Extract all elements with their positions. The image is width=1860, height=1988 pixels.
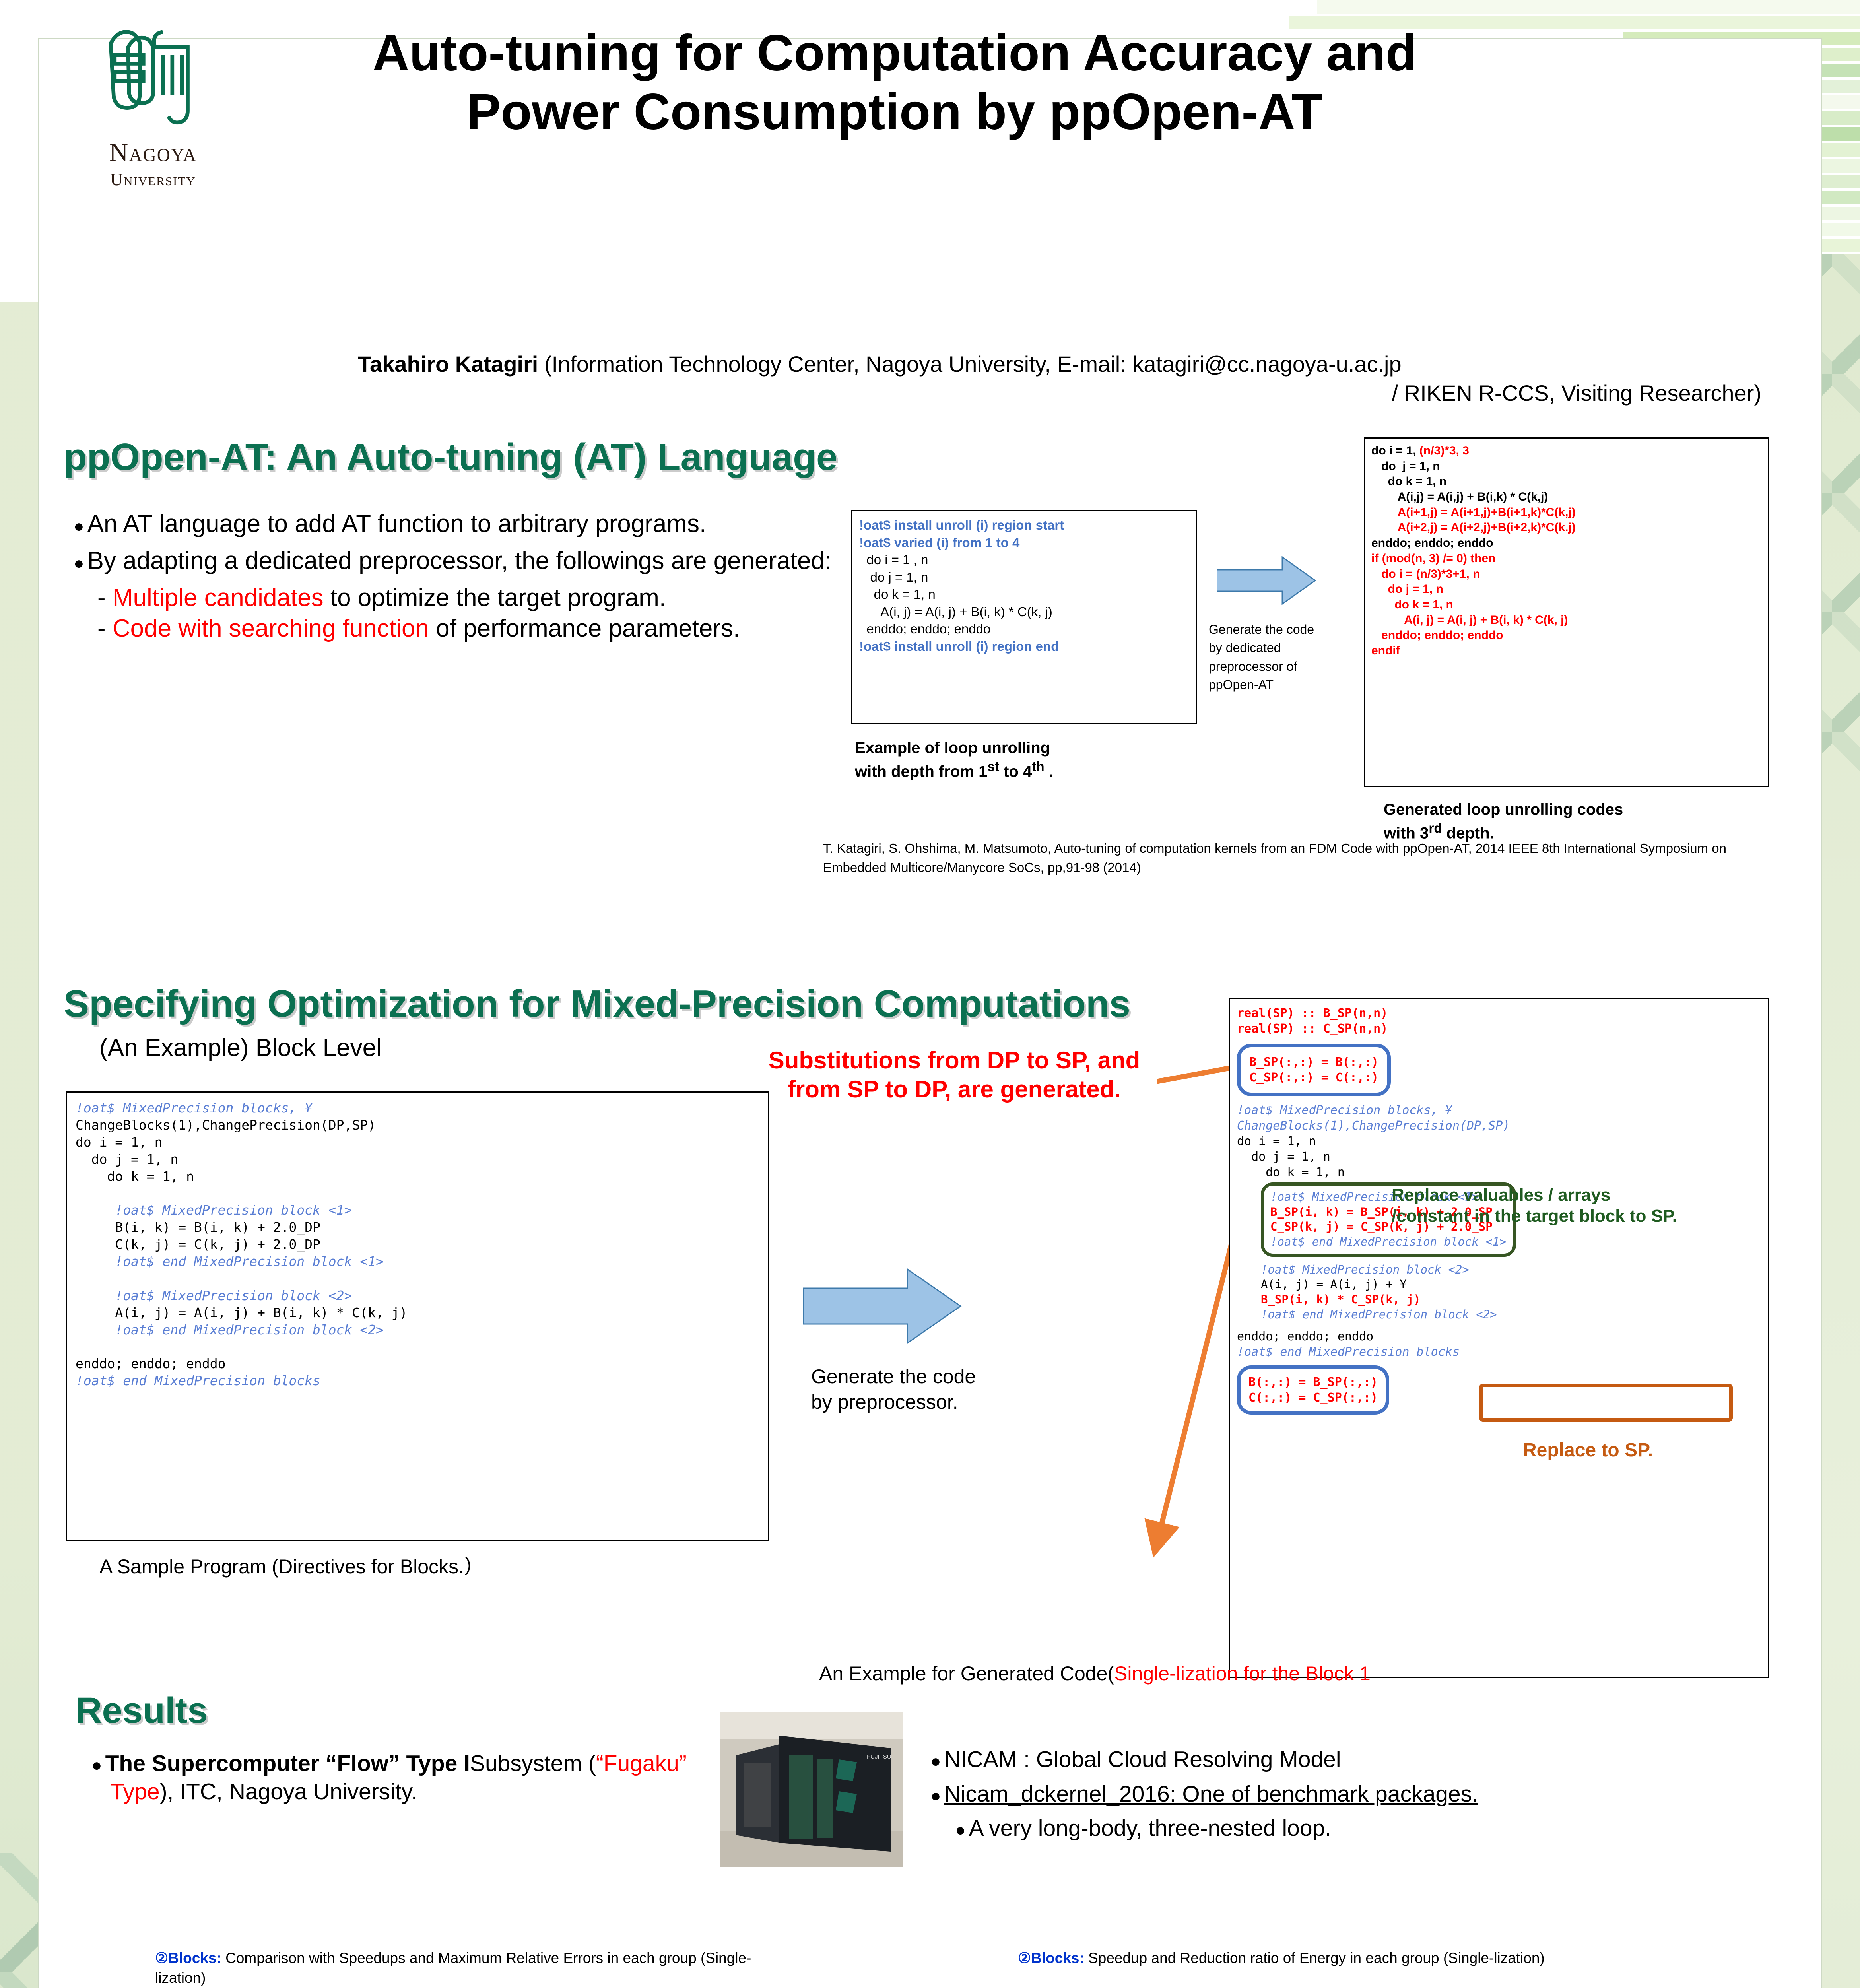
section1-reference: T. Katagiri, S. Ohshima, M. Matsumoto, A… — [823, 839, 1769, 877]
code-box-unroll-directive: !oat$ install unroll (i) region start !o… — [851, 510, 1197, 724]
code-listing: !oat$ MixedPrecision block <2> A(i, j) =… — [1261, 1262, 1761, 1322]
section1-title: ppOpen-AT: An Auto-tuning (AT) Language — [64, 435, 837, 479]
code-box-mixedprecision-source: !oat$ MixedPrecision blocks, ¥ ChangeBlo… — [66, 1091, 769, 1541]
caption-line: Example of loop unrolling — [855, 738, 1205, 758]
highlight-box-orange — [1479, 1384, 1733, 1422]
author-line: Takahiro Katagiri (Information Technolog… — [358, 350, 1773, 408]
highlight-box-blue-bottom: B(:,:) = B_SP(:,:) C(:,:) = C_SP(:,:) — [1237, 1365, 1389, 1415]
bullet-subitem-rest: of performance parameters. — [429, 615, 740, 642]
code-box-mixedprecision-generated: real(SP) :: B_SP(n,n) real(SP) :: C_SP(n… — [1229, 998, 1769, 1678]
code-listing: !oat$ install unroll (i) region start !o… — [859, 516, 1188, 655]
caption-prefix: An Example for Generated Code( — [819, 1662, 1114, 1685]
caption-line: with depth from 1st to 4th . — [855, 758, 1205, 782]
substitution-note: Substitutions from DP to SP, and from SP… — [755, 1046, 1153, 1104]
author-line2: / RIKEN R-CCS, Visiting Researcher) — [358, 379, 1773, 408]
bullet-item: By adapting a dedicated preprocessor, th… — [74, 546, 837, 577]
svg-text:FUJITSU: FUJITSU — [867, 1753, 891, 1760]
arrow-note-line: Generate the code — [1209, 620, 1328, 639]
bullet-text: ), ITC, Nagoya University. — [160, 1779, 417, 1804]
logo-university-name: Nagoya — [74, 138, 233, 168]
section2-subtitle: (An Example) Block Level — [99, 1034, 382, 1062]
page-title-line1: Auto-tuning for Computation Accuracy and — [247, 24, 1543, 83]
preprocessor-note: Generate the code by preprocessor. — [811, 1364, 1002, 1415]
section2-title: Specifying Optimization for Mixed-Precis… — [64, 982, 1130, 1026]
page-title: Auto-tuning for Computation Accuracy and… — [247, 24, 1543, 142]
poster-root: Nagoya University Auto-tuning for Comput… — [0, 0, 1860, 1988]
bullet-subitem-rest: to optimize the target program. — [324, 584, 666, 612]
bullet-subitem: Code with searching function of performa… — [74, 613, 837, 644]
bullet-subitem-highlight: Code with searching function — [113, 615, 429, 642]
code-box-generated-unroll: do i = 1, (n/3)*3, 3 do j = 1, n do k = … — [1364, 437, 1769, 787]
section1-bullets: An AT language to add AT function to arb… — [74, 509, 837, 644]
bullet-subitem: Multiple candidates to optimize the targ… — [74, 583, 837, 613]
chart-title-marker: ② — [155, 1950, 168, 1966]
note-line: /constant in the target block to SP. — [1392, 1206, 1781, 1227]
code-box-left-caption: Example of loop unrolling with depth fro… — [855, 738, 1205, 782]
results-right-bullets: NICAM : Global Cloud Resolving Model Nic… — [930, 1745, 1738, 1849]
bullet-subitem-highlight: Multiple candidates — [113, 584, 324, 612]
code-box-right-caption: Generated loop unrolling codes with 3rd … — [1384, 799, 1781, 843]
note-line: Replace valuables / arrays — [1392, 1185, 1781, 1206]
arrow-note: Generate the code by dedicated preproces… — [1209, 620, 1328, 694]
bullet-item: An AT language to add AT function to arb… — [74, 509, 837, 540]
bullet-item: Nicam_dckernel_2016: One of benchmark pa… — [930, 1780, 1738, 1808]
bullet-bold: The Supercomputer “Flow” Type I — [105, 1751, 470, 1776]
code-listing: B(:,:) = B_SP(:,:) C(:,:) = C_SP(:,:) — [1248, 1375, 1378, 1406]
supercomputer-photo: FUJITSU — [720, 1712, 903, 1867]
code-listing: enddo; enddo; enddo !oat$ end MixedPreci… — [1237, 1329, 1761, 1360]
nagoya-crest-icon — [95, 22, 211, 133]
code-box-left-caption: A Sample Program (Directives for Blocks.… — [99, 1551, 484, 1579]
flow-arrow-right-icon — [1217, 555, 1316, 606]
arrow-note-line: preprocessor of — [1209, 657, 1328, 676]
bullet-text-underlined: Nicam_dckernel_2016: One of benchmark pa… — [944, 1781, 1478, 1807]
nagoya-university-logo: Nagoya University — [74, 22, 233, 190]
section3-title: Results — [76, 1690, 208, 1732]
chart-title-rest: Speedup and Reduction ratio of Energy in… — [1084, 1950, 1545, 1966]
author-affiliation: (Information Technology Center, Nagoya U… — [538, 351, 1401, 377]
page-title-line2: Power Consumption by ppOpen-AT — [247, 83, 1543, 142]
code-listing: do i = 1, (n/3)*3, 3 do j = 1, n do k = … — [1371, 443, 1762, 659]
arrow-note-line: by dedicated — [1209, 639, 1328, 657]
chart-title-bold: Blocks: — [1031, 1950, 1084, 1966]
code-listing-declarations: real(SP) :: B_SP(n,n) real(SP) :: C_SP(n… — [1237, 1006, 1761, 1037]
right-chart-title: ②Blocks: Speedup and Reduction ratio of … — [1018, 1948, 1718, 1968]
code-listing: !oat$ MixedPrecision blocks, ¥ ChangeBlo… — [76, 1100, 759, 1390]
flow-arrow-right-icon — [803, 1264, 962, 1348]
author-name: Takahiro Katagiri — [358, 351, 538, 377]
bullet-subitem: A very long-body, three-nested loop. — [930, 1814, 1738, 1842]
replace-variables-note: Replace valuables / arrays /constant in … — [1392, 1185, 1781, 1227]
results-left-bullets: The Supercomputer “Flow” Type ISubsystem… — [91, 1749, 712, 1812]
caption-highlight: Single-lization for the Block 1 — [1114, 1662, 1371, 1685]
bullet-text: Subsystem ( — [470, 1751, 596, 1776]
chart-title-bold: Blocks: — [168, 1950, 221, 1966]
bullet-item: NICAM : Global Cloud Resolving Model — [930, 1745, 1738, 1774]
replace-to-sp-note: Replace to SP. — [1523, 1439, 1653, 1461]
code-listing: !oat$ MixedPrecision blocks, ¥ ChangeBlo… — [1237, 1103, 1761, 1180]
chart-title-marker: ② — [1018, 1950, 1031, 1966]
logo-university-sub: University — [74, 169, 233, 190]
bullet-item: The Supercomputer “Flow” Type ISubsystem… — [91, 1749, 712, 1806]
highlight-box-blue-top: B_SP(:,:) = B(:,:) C_SP(:,:) = C(:,:) — [1237, 1044, 1391, 1096]
arrow-note-line: ppOpen-AT — [1209, 676, 1328, 694]
code-listing: B_SP(:,:) = B(:,:) C_SP(:,:) = C(:,:) — [1249, 1054, 1378, 1085]
chart-title-rest: Comparison with Speedups and Maximum Rel… — [155, 1950, 751, 1986]
left-chart-title: ②Blocks: Comparison with Speedups and Ma… — [155, 1948, 799, 1988]
code-box-right-caption: An Example for Generated Code(Single-liz… — [819, 1662, 1371, 1685]
caption-line: Generated loop unrolling codes — [1384, 799, 1781, 820]
